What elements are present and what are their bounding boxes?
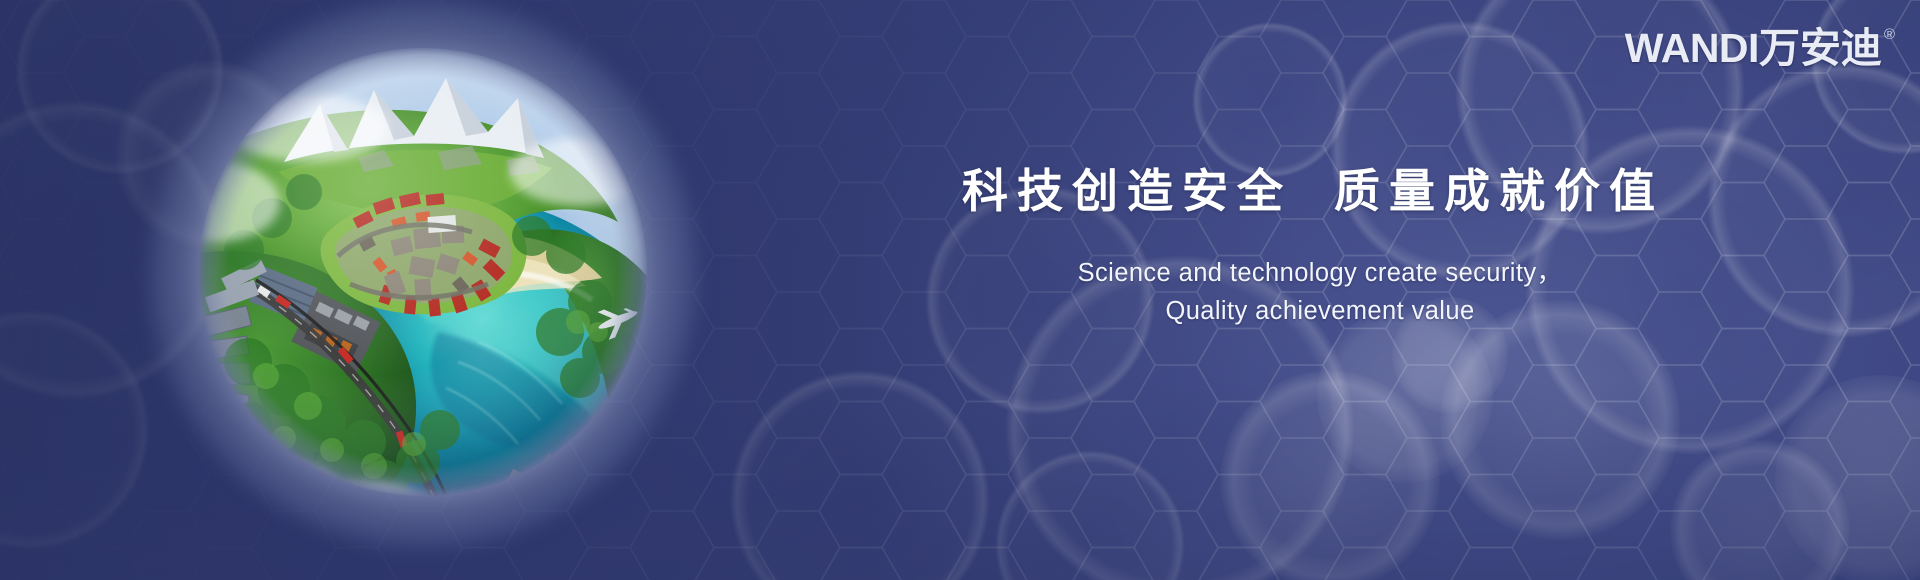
page-title: 科技创造安全质量成就价值 xyxy=(962,168,1664,214)
brand-logo[interactable]: WANDI 万安迪 ® xyxy=(1625,24,1895,72)
headline-part-2: 质量成就价值 xyxy=(1334,165,1664,217)
globe-illustration xyxy=(188,32,658,512)
subtitle-line-2: Quality achievement value xyxy=(790,292,1850,330)
logo-chinese-mark: 万安迪 xyxy=(1759,24,1882,72)
registered-trademark-icon: ® xyxy=(1884,27,1895,42)
logo-wordmark: WANDI xyxy=(1625,24,1759,72)
subtitle-line-1: Science and technology create security， xyxy=(1078,259,1563,287)
tiny-planet-globe xyxy=(188,32,658,512)
hero-banner: 科技创造安全质量成就价值 Science and technology crea… xyxy=(0,0,1920,580)
page-subtitle: Science and technology create security， … xyxy=(790,254,1850,330)
headline-part-1: 科技创造安全 xyxy=(962,165,1292,217)
